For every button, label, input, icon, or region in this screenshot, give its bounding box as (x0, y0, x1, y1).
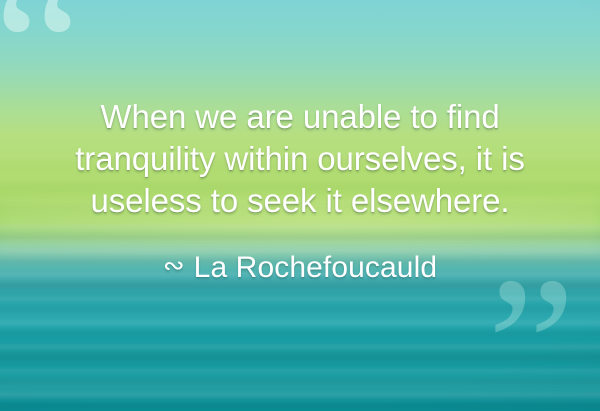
quote-text: When we are unable to find tranquility w… (0, 96, 600, 222)
swash-ornament-icon: ∾ (163, 246, 184, 284)
quote-text-block: When we are unable to find tranquility w… (0, 96, 600, 287)
quote-line-1: When we are unable to find (0, 96, 600, 138)
quote-line-3: useless to seek it elsewhere. (0, 180, 600, 222)
quote-line-2: tranquility within ourselves, it is (0, 138, 600, 180)
quote-attribution: ∾La Rochefoucauld (0, 246, 600, 287)
attribution-author-name: La Rochefoucauld (194, 251, 437, 284)
quote-image-card: “ ” When we are unable to find tranquili… (0, 0, 600, 411)
